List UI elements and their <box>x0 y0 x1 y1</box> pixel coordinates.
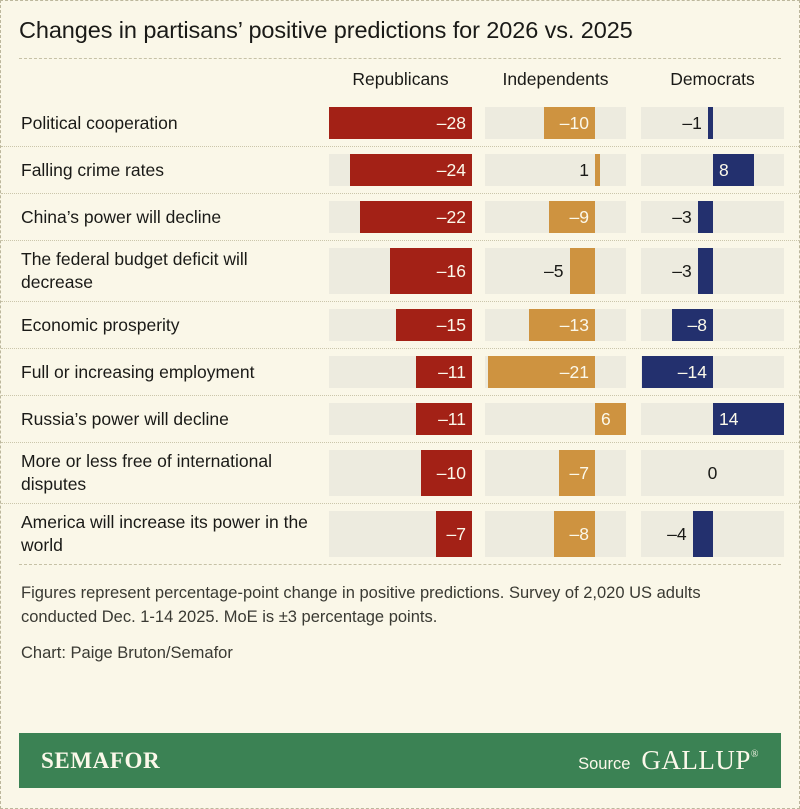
bar-track-republicans: –7 <box>329 511 472 557</box>
row-label: America will increase its power in the w… <box>1 511 329 557</box>
row-tracks: –11–21–14 <box>329 349 799 395</box>
bar-democrats: –8 <box>672 309 713 341</box>
row-tracks: –10–70 <box>329 443 799 503</box>
bar-value: –28 <box>437 114 466 132</box>
bar-value: –11 <box>438 363 466 381</box>
bar-democrats: 8 <box>713 154 754 186</box>
bar-value: –21 <box>560 363 589 381</box>
bar-value: –13 <box>560 316 589 334</box>
bar-independents: –21 <box>488 356 595 388</box>
bar-value: 14 <box>719 410 738 428</box>
bar-value: –9 <box>570 208 589 226</box>
chart-row: The federal budget deficit will decrease… <box>1 241 799 302</box>
bar-value: 1 <box>579 161 589 179</box>
bar-track-independents: –21 <box>485 356 626 388</box>
bar-value: 6 <box>601 410 611 428</box>
chart-row: Full or increasing employment–11–21–14 <box>1 349 799 396</box>
title-zone: Changes in partisans’ positive predictio… <box>1 1 799 45</box>
bar-value: –7 <box>570 464 589 482</box>
chart-row: Russia’s power will decline–11614 <box>1 396 799 443</box>
row-label: Full or increasing employment <box>1 361 329 384</box>
bar-value: –10 <box>560 114 589 132</box>
bar-value: –7 <box>447 525 466 543</box>
row-tracks: –22–9–3 <box>329 194 799 240</box>
bar-democrats: –3 <box>698 201 713 233</box>
row-tracks: –7–8–4 <box>329 504 799 564</box>
bar-value: 8 <box>719 161 729 179</box>
bar-track-democrats: –3 <box>641 248 784 294</box>
bar-value: –15 <box>437 316 466 334</box>
bar-republicans: –11 <box>416 403 472 435</box>
bar-value: –11 <box>438 410 466 428</box>
bar-track-republicans: –11 <box>329 356 472 388</box>
bar-track-democrats: –14 <box>641 356 784 388</box>
chart-rows: Political cooperation–28–10–1Falling cri… <box>1 100 799 564</box>
bar-value: –4 <box>667 525 686 543</box>
bar-value: –8 <box>570 525 589 543</box>
bar-independents: 6 <box>595 403 626 435</box>
source-attribution: Source GALLUP® <box>578 745 759 776</box>
bar-value: –24 <box>437 161 466 179</box>
bar-value: –14 <box>678 363 707 381</box>
brand-bar: SEMAFOR Source GALLUP® <box>19 733 781 788</box>
gallup-wordmark: GALLUP <box>641 745 751 775</box>
page-title: Changes in partisans’ positive predictio… <box>19 15 781 45</box>
bar-value: –5 <box>544 262 563 280</box>
bar-republicans: –24 <box>350 154 472 186</box>
bar-track-democrats: –4 <box>641 511 784 557</box>
bar-republicans: –15 <box>396 309 473 341</box>
chart-row: America will increase its power in the w… <box>1 504 799 564</box>
bar-track-democrats: –3 <box>641 201 784 233</box>
bar-independents: –5 <box>570 248 596 294</box>
bar-independents: –10 <box>544 107 595 139</box>
row-label: Political cooperation <box>1 112 329 135</box>
bar-republicans: –7 <box>436 511 472 557</box>
bar-value: –3 <box>672 262 691 280</box>
bar-track-independents: –7 <box>485 450 626 496</box>
footnotes: Figures represent percentage-point chang… <box>1 565 799 665</box>
bar-republicans: –10 <box>421 450 472 496</box>
bar-track-democrats: 0 <box>641 450 784 496</box>
bar-value: –22 <box>437 208 466 226</box>
bar-democrats: 14 <box>713 403 784 435</box>
column-header-republicans: Republicans <box>329 68 472 90</box>
bar-track-democrats: 8 <box>641 154 784 186</box>
bar-track-republicans: –10 <box>329 450 472 496</box>
bar-track-democrats: –8 <box>641 309 784 341</box>
row-tracks: –15–13–8 <box>329 302 799 348</box>
column-header-democrats: Democrats <box>641 68 784 90</box>
bar-republicans: –16 <box>390 248 472 294</box>
row-tracks: –11614 <box>329 396 799 442</box>
chart-row: Economic prosperity–15–13–8 <box>1 302 799 349</box>
bar-value: –16 <box>437 262 466 280</box>
bar-democrats: –3 <box>698 248 713 294</box>
bar-independents: –7 <box>559 450 595 496</box>
bar-track-republicans: –15 <box>329 309 472 341</box>
chart-row: Falling crime rates–2418 <box>1 147 799 194</box>
row-label: Russia’s power will decline <box>1 408 329 431</box>
bar-independents: –9 <box>549 201 595 233</box>
bar-track-republicans: –11 <box>329 403 472 435</box>
bar-value: 0 <box>708 464 718 482</box>
bar-track-independents: 6 <box>485 403 626 435</box>
bar-track-democrats: 14 <box>641 403 784 435</box>
column-header-independents: Independents <box>485 68 626 90</box>
row-tracks: –16–5–3 <box>329 241 799 301</box>
row-label: More or less free of international dispu… <box>1 450 329 496</box>
bar-democrats: –4 <box>693 511 713 557</box>
bar-democrats: –14 <box>642 356 713 388</box>
bar-track-republicans: –24 <box>329 154 472 186</box>
bar-value: –1 <box>682 114 701 132</box>
chart-row: More or less free of international dispu… <box>1 443 799 504</box>
bar-democrats: –1 <box>708 107 713 139</box>
bar-track-independents: –10 <box>485 107 626 139</box>
bar-track-independents: –9 <box>485 201 626 233</box>
chart-row: China’s power will decline–22–9–3 <box>1 194 799 241</box>
trademark-icon: ® <box>751 749 759 760</box>
bar-value: –8 <box>688 316 707 334</box>
gallup-logo: GALLUP® <box>641 745 759 776</box>
bar-republicans: –22 <box>360 201 472 233</box>
column-headers: RepublicansIndependentsDemocrats <box>1 68 799 98</box>
row-label: The federal budget deficit will decrease <box>1 248 329 294</box>
bar-independents: 1 <box>595 154 600 186</box>
row-label: Falling crime rates <box>1 159 329 182</box>
bar-track-independents: –13 <box>485 309 626 341</box>
chart-card: Changes in partisans’ positive predictio… <box>0 0 800 809</box>
chart-row: Political cooperation–28–10–1 <box>1 100 799 147</box>
bar-republicans: –28 <box>329 107 472 139</box>
footnote-text: Figures represent percentage-point chang… <box>21 581 761 629</box>
bar-track-independents: –8 <box>485 511 626 557</box>
source-label: Source <box>578 755 630 774</box>
bar-value: –3 <box>672 208 691 226</box>
bar-track-republicans: –22 <box>329 201 472 233</box>
bar-republicans: –11 <box>416 356 472 388</box>
bar-track-republicans: –16 <box>329 248 472 294</box>
bar-independents: –13 <box>529 309 595 341</box>
row-label: Economic prosperity <box>1 314 329 337</box>
bar-track-republicans: –28 <box>329 107 472 139</box>
bar-track-independents: –5 <box>485 248 626 294</box>
row-tracks: –2418 <box>329 147 799 193</box>
bar-track-democrats: –1 <box>641 107 784 139</box>
row-tracks: –28–10–1 <box>329 100 799 146</box>
chart-credit: Chart: Paige Bruton/Semafor <box>21 641 779 665</box>
bar-independents: –8 <box>554 511 595 557</box>
row-label: China’s power will decline <box>1 206 329 229</box>
title-divider <box>19 58 781 59</box>
semafor-logo: SEMAFOR <box>41 748 160 774</box>
bar-track-independents: 1 <box>485 154 626 186</box>
bar-value: –10 <box>437 464 466 482</box>
